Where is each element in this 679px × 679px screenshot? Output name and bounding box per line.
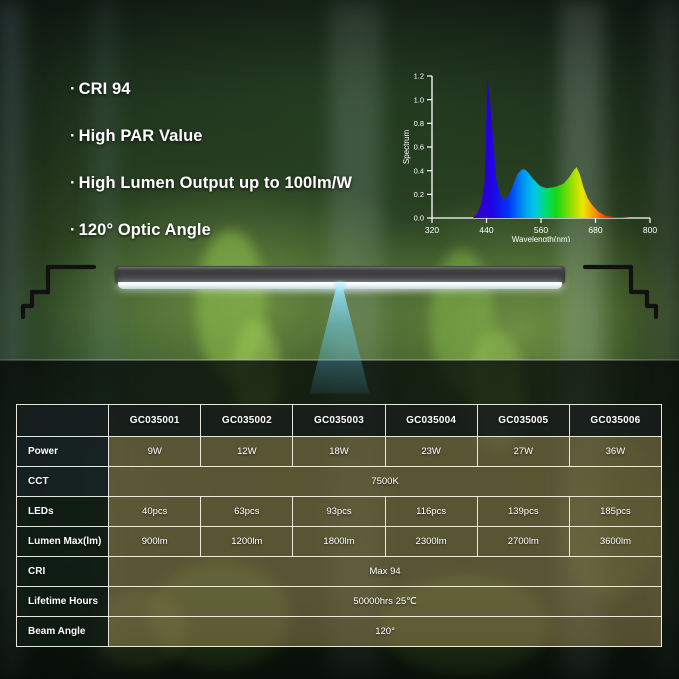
- model-header-5: GC035005: [477, 405, 569, 437]
- feature-text: High PAR Value: [79, 127, 203, 145]
- spectrum-curve: [473, 76, 650, 218]
- y-tick-label: 0.2: [414, 190, 424, 199]
- power-value-3: 18W: [293, 437, 385, 467]
- product-image-led-bar: [0, 250, 679, 360]
- model-header-2: GC035002: [201, 405, 293, 437]
- specification-table: GC035001 GC035002 GC035003 GC035004 GC03…: [16, 404, 662, 647]
- infographic-canvas: ·CRI 94 ·High PAR Value ·High Lumen Outp…: [0, 0, 679, 679]
- row-label-leds: LEDs: [17, 497, 109, 527]
- light-beam-cone: [310, 286, 370, 394]
- mounting-bracket-right-icon: [581, 262, 661, 324]
- leds-value-2: 63pcs: [201, 497, 293, 527]
- bullet-icon: ·: [70, 80, 76, 98]
- bullet-icon: ·: [70, 174, 76, 192]
- lifetime-value: 50000hrs 25℃: [109, 587, 662, 617]
- table-row-cct: CCT 7500K: [17, 467, 662, 497]
- lumen-value-6: 3600lm: [569, 527, 661, 557]
- model-header-4: GC035004: [385, 405, 477, 437]
- x-tick-label: 560: [534, 225, 548, 235]
- power-value-1: 9W: [109, 437, 201, 467]
- light-beam-source: [333, 281, 347, 291]
- chart-x-tick-labels: 320 440 560 680 800: [425, 225, 657, 235]
- y-tick-label: 1.2: [414, 72, 424, 81]
- x-axis-title: Wavelength(nm): [512, 235, 571, 242]
- chart-y-tick-labels: 0.0 0.2 0.4 0.6 0.8 1.0 1.2: [414, 72, 424, 223]
- table-row-leds: LEDs 40pcs 63pcs 93pcs 116pcs 139pcs 185…: [17, 497, 662, 527]
- row-label-beam-angle: Beam Angle: [17, 617, 109, 647]
- row-label-cri: CRI: [17, 557, 109, 587]
- table-row-lifetime: Lifetime Hours 50000hrs 25℃: [17, 587, 662, 617]
- power-value-2: 12W: [201, 437, 293, 467]
- spec-table-body: GC035001 GC035002 GC035003 GC035004 GC03…: [17, 405, 662, 647]
- feature-item-optic-angle: ·120° Optic Angle: [70, 221, 400, 240]
- power-value-6: 36W: [569, 437, 661, 467]
- spectrum-chart: 0.0 0.2 0.4 0.6 0.8 1.0 1.2 320 440 560 …: [398, 62, 660, 242]
- feature-item-cri: ·CRI 94: [70, 80, 400, 99]
- row-label-power: Power: [17, 437, 109, 467]
- model-header-1: GC035001: [109, 405, 201, 437]
- feature-text: 120° Optic Angle: [79, 221, 211, 239]
- bullet-icon: ·: [70, 127, 76, 145]
- feature-item-par: ·High PAR Value: [70, 127, 400, 146]
- leds-value-4: 116pcs: [385, 497, 477, 527]
- model-header-6: GC035006: [569, 405, 661, 437]
- table-row-power: Power 9W 12W 18W 23W 27W 36W: [17, 437, 662, 467]
- lumen-value-4: 2300lm: [385, 527, 477, 557]
- table-header-row: GC035001 GC035002 GC035003 GC035004 GC03…: [17, 405, 662, 437]
- table-row-cri: CRI Max 94: [17, 557, 662, 587]
- beam-angle-value: 120°: [109, 617, 662, 647]
- leds-value-3: 93pcs: [293, 497, 385, 527]
- feature-text: High Lumen Output up to 100lm/W: [79, 174, 353, 192]
- y-tick-label: 0.8: [414, 119, 424, 128]
- feature-text: CRI 94: [79, 80, 131, 98]
- bullet-icon: ·: [70, 221, 76, 239]
- row-label-cct: CCT: [17, 467, 109, 497]
- lumen-value-3: 1800lm: [293, 527, 385, 557]
- lumen-value-1: 900lm: [109, 527, 201, 557]
- power-value-5: 27W: [477, 437, 569, 467]
- spectrum-chart-svg: 0.0 0.2 0.4 0.6 0.8 1.0 1.2 320 440 560 …: [398, 62, 660, 242]
- cri-value: Max 94: [109, 557, 662, 587]
- x-tick-label: 440: [479, 225, 493, 235]
- leds-value-6: 185pcs: [569, 497, 661, 527]
- x-tick-label: 800: [643, 225, 657, 235]
- y-tick-label: 0.6: [414, 143, 424, 152]
- y-tick-label: 0.0: [414, 214, 424, 223]
- feature-list: ·CRI 94 ·High PAR Value ·High Lumen Outp…: [70, 80, 400, 268]
- cct-value: 7500K: [109, 467, 662, 497]
- x-tick-label: 320: [425, 225, 439, 235]
- row-label-lumen: Lumen Max(lm): [17, 527, 109, 557]
- leds-value-5: 139pcs: [477, 497, 569, 527]
- mounting-bracket-left-icon: [18, 262, 98, 324]
- lumen-value-5: 2700lm: [477, 527, 569, 557]
- power-value-4: 23W: [385, 437, 477, 467]
- y-tick-label: 1.0: [414, 95, 424, 104]
- row-label-lifetime: Lifetime Hours: [17, 587, 109, 617]
- feature-item-lumen: ·High Lumen Output up to 100lm/W: [70, 174, 400, 193]
- table-row-lumen: Lumen Max(lm) 900lm 1200lm 1800lm 2300lm…: [17, 527, 662, 557]
- table-row-beam-angle: Beam Angle 120°: [17, 617, 662, 647]
- x-tick-label: 680: [588, 225, 602, 235]
- y-axis-title: Spectrum: [402, 130, 411, 165]
- model-header-3: GC035003: [293, 405, 385, 437]
- y-tick-label: 0.4: [414, 166, 424, 175]
- leds-value-1: 40pcs: [109, 497, 201, 527]
- table-corner-cell: [17, 405, 109, 437]
- lumen-value-2: 1200lm: [201, 527, 293, 557]
